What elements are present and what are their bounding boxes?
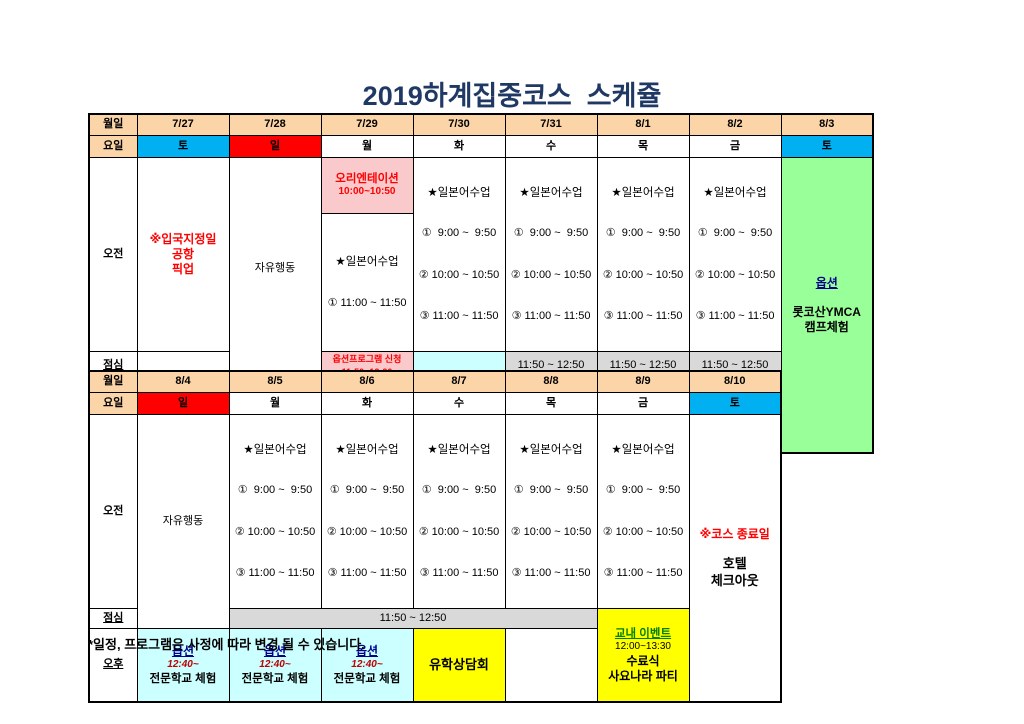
dow-0810: 토 <box>689 393 781 415</box>
date-header-0730: 7/30 <box>413 114 505 136</box>
dow-0805: 월 <box>229 393 321 415</box>
date-header-0727: 7/27 <box>137 114 229 136</box>
class-period-1: ① 9:00 ~ 9:50 <box>414 227 505 241</box>
schedule-page: 2019하계집중코스 스케쥴 월일 7/27 7/28 7/29 7/30 7/… <box>0 0 1024 724</box>
arrival-note: ※입국지정일 <box>138 232 229 247</box>
col-header-label: 월일 <box>89 371 137 393</box>
class-period-2: ② 10:00 ~ 10:50 <box>690 269 781 283</box>
cell-0807-japanese-class: ★일본어수업 ① 9:00 ~ 9:50 ② 10:00 ~ 10:50 ③ 1… <box>413 415 505 609</box>
cell-0809-japanese-class: ★일본어수업 ① 9:00 ~ 9:50 ② 10:00 ~ 10:50 ③ 1… <box>597 415 689 609</box>
class-period-3: ③ 11:00 ~ 11:50 <box>506 310 597 324</box>
airport-label: 공항 <box>138 247 229 262</box>
dow-0801: 목 <box>597 136 689 158</box>
class-head: ★일본어수업 <box>230 443 321 457</box>
class-head: ★일본어수업 <box>506 443 597 457</box>
class-period-3: ③ 11:00 ~ 11:50 <box>322 567 413 581</box>
class-period-2: ② 10:00 ~ 10:50 <box>598 269 689 283</box>
date-header-0810: 8/10 <box>689 371 781 393</box>
class-head: ★일본어수업 <box>598 443 689 457</box>
table-row-dates: 월일 7/27 7/28 7/29 7/30 7/31 8/1 8/2 8/3 <box>89 114 873 136</box>
date-header-0801: 8/1 <box>597 114 689 136</box>
class-period-1: ① 9:00 ~ 9:50 <box>414 484 505 498</box>
cell-0803-option-camp: 옵션 롯코산YMCA 캠프체험 <box>781 158 873 454</box>
cell-0804-free-activity: 자유행동 <box>137 415 229 629</box>
date-header-0807: 8/7 <box>413 371 505 393</box>
dow-header-label: 요일 <box>89 393 137 415</box>
event-time: 12:00~13:30 <box>598 641 689 654</box>
row-label-morning: 오전 <box>89 158 137 352</box>
event-title: 교내 이벤트 <box>598 627 689 641</box>
dow-0729: 월 <box>321 136 413 158</box>
class-period-1: ① 11:00 ~ 11:50 <box>322 297 413 311</box>
dow-0731: 수 <box>505 136 597 158</box>
date-header-0802: 8/2 <box>689 114 781 136</box>
cell-0801-japanese-class: ★일본어수업 ① 9:00 ~ 9:50 ② 10:00 ~ 10:50 ③ 1… <box>597 158 689 352</box>
option-name-line1: 롯코산YMCA <box>782 305 873 320</box>
dow-0808: 목 <box>505 393 597 415</box>
dow-0802: 금 <box>689 136 781 158</box>
cell-0810-checkout: ※코스 종료일 호텔 체크아웃 <box>689 415 781 703</box>
dow-0807: 수 <box>413 393 505 415</box>
class-period-2: ② 10:00 ~ 10:50 <box>506 269 597 283</box>
class-period-3: ③ 11:00 ~ 11:50 <box>690 310 781 324</box>
cell-0805-japanese-class: ★일본어수업 ① 9:00 ~ 9:50 ② 10:00 ~ 10:50 ③ 1… <box>229 415 321 609</box>
table-row-dow: 요일 일 월 화 수 목 금 토 <box>89 393 781 415</box>
class-head: ★일본어수업 <box>414 443 505 457</box>
class-head: ★일본어수업 <box>414 186 505 200</box>
class-period-1: ① 9:00 ~ 9:50 <box>598 484 689 498</box>
event-name-line1: 수료식 <box>598 654 689 669</box>
row-label-morning: 오전 <box>89 415 137 609</box>
schedule-table-second-week: 월일 8/4 8/5 8/6 8/7 8/8 8/9 8/10 요일 일 월 화… <box>88 370 782 703</box>
class-period-2: ② 10:00 ~ 10:50 <box>322 526 413 540</box>
option-time: 12:40~ <box>138 659 229 672</box>
date-header-0728: 7/28 <box>229 114 321 136</box>
dow-0809: 금 <box>597 393 689 415</box>
cell-0728-free-activity: 자유행동 <box>229 158 321 380</box>
dow-0806: 화 <box>321 393 413 415</box>
date-header-0806: 8/6 <box>321 371 413 393</box>
class-period-3: ③ 11:00 ~ 11:50 <box>598 567 689 581</box>
footnote-text: *일정, 프로그램은 사정에 따라 변경 될 수 있습니다. <box>88 634 365 653</box>
date-header-0804: 8/4 <box>137 371 229 393</box>
cell-0802-japanese-class: ★일본어수업 ① 9:00 ~ 9:50 ② 10:00 ~ 10:50 ③ 1… <box>689 158 781 352</box>
class-period-3: ③ 11:00 ~ 11:50 <box>414 567 505 581</box>
class-period-1: ① 9:00 ~ 9:50 <box>230 484 321 498</box>
option-time: 12:40~ <box>322 659 413 672</box>
class-period-1: ① 9:00 ~ 9:50 <box>506 484 597 498</box>
dow-header-label: 요일 <box>89 136 137 158</box>
cell-0809-school-event: 교내 이벤트 12:00~13:30 수료식 사요나라 파티 <box>597 609 689 703</box>
date-header-0803: 8/3 <box>781 114 873 136</box>
table-row-morning: 오전 자유행동 ★일본어수업 ① 9:00 ~ 9:50 ② 10:00 ~ 1… <box>89 415 781 609</box>
cell-0808-counseling: 유학상담회 <box>413 629 505 703</box>
class-head: ★일본어수업 <box>322 255 413 269</box>
cell-0731-japanese-class: ★일본어수업 ① 9:00 ~ 9:50 ② 10:00 ~ 10:50 ③ 1… <box>505 158 597 352</box>
dow-0727: 토 <box>137 136 229 158</box>
row-label-lunch: 점심 <box>89 609 137 629</box>
class-head: ★일본어수업 <box>506 186 597 200</box>
class-period-3: ③ 11:00 ~ 11:50 <box>414 310 505 324</box>
class-head: ★일본어수업 <box>598 186 689 200</box>
class-period-1: ① 9:00 ~ 9:50 <box>322 484 413 498</box>
class-period-2: ② 10:00 ~ 10:50 <box>414 269 505 283</box>
cell-0727-morning: ※입국지정일 공항 픽업 <box>137 158 229 352</box>
counseling-label: 유학상담회 <box>429 657 489 672</box>
orientation-time: 10:00~10:50 <box>322 186 413 199</box>
date-header-0731: 7/31 <box>505 114 597 136</box>
date-header-0729: 7/29 <box>321 114 413 136</box>
class-period-2: ② 10:00 ~ 10:50 <box>598 526 689 540</box>
class-period-2: ② 10:00 ~ 10:50 <box>414 526 505 540</box>
lunch-time-week2: 11:50 ~ 12:50 <box>229 609 597 629</box>
class-period-2: ② 10:00 ~ 10:50 <box>506 526 597 540</box>
option-name: 전문학교 체험 <box>138 672 229 686</box>
class-head: ★일본어수업 <box>322 443 413 457</box>
class-period-1: ① 9:00 ~ 9:50 <box>598 227 689 241</box>
class-period-3: ③ 11:00 ~ 11:50 <box>598 310 689 324</box>
option-title: 옵션 <box>782 276 873 291</box>
cell-0806-japanese-class: ★일본어수업 ① 9:00 ~ 9:50 ② 10:00 ~ 10:50 ③ 1… <box>321 415 413 609</box>
cell-0730-japanese-class: ★일본어수업 ① 9:00 ~ 9:50 ② 10:00 ~ 10:50 ③ 1… <box>413 158 505 352</box>
class-period-2: ② 10:00 ~ 10:50 <box>230 526 321 540</box>
dow-0730: 화 <box>413 136 505 158</box>
course-end-note: ※코스 종료일 <box>690 527 781 542</box>
class-period-3: ③ 11:00 ~ 11:50 <box>230 567 321 581</box>
col-header-label: 월일 <box>89 114 137 136</box>
cell-0729-japanese-class: ★일본어수업 ① 11:00 ~ 11:50 <box>321 213 413 351</box>
table-row-dates: 월일 8/4 8/5 8/6 8/7 8/8 8/9 8/10 <box>89 371 781 393</box>
date-header-0808: 8/8 <box>505 371 597 393</box>
dow-0728: 일 <box>229 136 321 158</box>
option-time: 12:40~ <box>230 659 321 672</box>
date-header-0809: 8/9 <box>597 371 689 393</box>
pickup-label: 픽업 <box>138 262 229 277</box>
hotel-label: 호텔 <box>690 556 781 572</box>
page-title: 2019하계집중코스 스케쥴 <box>0 74 1024 113</box>
class-head: ★일본어수업 <box>690 186 781 200</box>
class-period-1: ① 9:00 ~ 9:50 <box>690 227 781 241</box>
class-period-1: ① 9:00 ~ 9:50 <box>506 227 597 241</box>
dow-0803: 토 <box>781 136 873 158</box>
date-header-0805: 8/5 <box>229 371 321 393</box>
checkout-label: 체크아웃 <box>690 573 781 589</box>
class-period-3: ③ 11:00 ~ 11:50 <box>506 567 597 581</box>
option-name-line2: 캠프체험 <box>782 320 873 335</box>
table-row-dow: 요일 토 일 월 화 수 목 금 토 <box>89 136 873 158</box>
option-name: 전문학교 체험 <box>230 672 321 686</box>
table-row-morning-top: 오전 ※입국지정일 공항 픽업 자유행동 오리엔테이션 10:00~10:50 … <box>89 158 873 214</box>
cell-0808-japanese-class: ★일본어수업 ① 9:00 ~ 9:50 ② 10:00 ~ 10:50 ③ 1… <box>505 415 597 609</box>
event-name-line2: 사요나라 파티 <box>598 669 689 684</box>
dow-0804: 일 <box>137 393 229 415</box>
orientation-title: 오리엔테이션 <box>322 172 413 186</box>
cell-0729-orientation: 오리엔테이션 10:00~10:50 <box>321 158 413 214</box>
option-name: 전문학교 체험 <box>322 672 413 686</box>
